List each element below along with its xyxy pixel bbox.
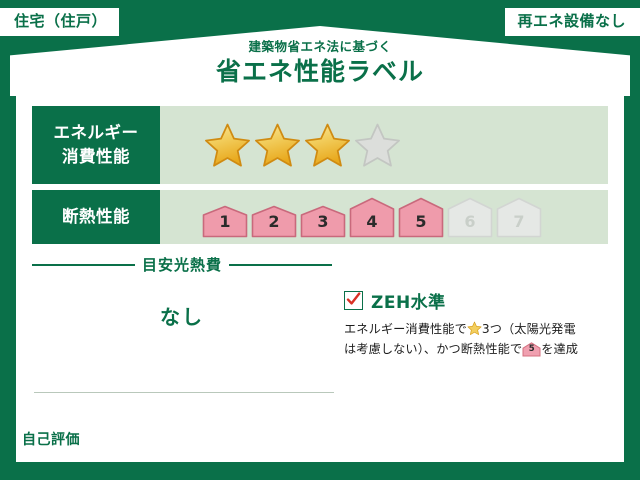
- property-name-block: ハートフルタウン松戸市樋野口Ⅴ（松戸）1号棟 （不動産ID：-）: [92, 430, 478, 464]
- evaluation-date: 評価日 2025年2月3日: [478, 430, 624, 450]
- renewable-equipment-badge: 再エネ設備なし: [505, 8, 640, 36]
- energy-cost-section: 目安光熱費 なし: [32, 254, 332, 330]
- insulation-level-number: 4: [366, 214, 377, 238]
- insulation-performance-label: 断熱性能: [32, 190, 160, 244]
- energy-performance-label-line2: 消費性能: [62, 145, 130, 169]
- inline-star-icon: [467, 321, 482, 336]
- energy-performance-stars: [160, 106, 608, 184]
- insulation-performance-row: 断熱性能 1 2 3 4: [32, 190, 608, 244]
- building-type-badge: 住宅（住戸）: [0, 8, 119, 36]
- inline-house-number: 5: [522, 342, 541, 357]
- star-filled: [304, 122, 351, 169]
- property-id: （不動産ID：-）: [92, 447, 478, 464]
- property-name: ハートフルタウン松戸市樋野口Ⅴ（松戸）1号棟: [92, 430, 363, 445]
- insulation-level-number: 3: [317, 214, 328, 238]
- star-empty: [354, 122, 401, 169]
- insulation-level-number: 6: [464, 214, 475, 238]
- energy-cost-value: なし: [32, 301, 332, 330]
- insulation-level-number: 7: [513, 214, 524, 238]
- insulation-level-6: 6: [447, 197, 493, 238]
- self-evaluation-badge: 自己評価: [16, 430, 86, 452]
- insulation-level-2: 2: [251, 205, 297, 238]
- energy-cost-title: 目安光熱費: [142, 254, 222, 275]
- insulation-house-scale: 1 2 3 4 5 6: [202, 197, 542, 238]
- insulation-level-4: 4: [349, 197, 395, 238]
- cost-section-divider: [34, 392, 334, 393]
- insulation-level-number: 5: [415, 214, 426, 238]
- insulation-performance-label-text: 断熱性能: [62, 205, 130, 229]
- zeh-description: エネルギー消費性能で 3つ（太陽光発電 は考慮しない）、かつ断熱性能で 5 を達…: [344, 320, 612, 360]
- energy-cost-header: 目安光熱費: [32, 254, 332, 275]
- evaluation-info: 評価日 2025年2月3日 6490475a-359e-43b9: [478, 430, 624, 462]
- footer-row: 自己評価 ハートフルタウン松戸市樋野口Ⅴ（松戸）1号棟 （不動産ID：-） 評価…: [16, 430, 624, 466]
- insulation-level-7: 7: [496, 197, 542, 238]
- insulation-level-3: 3: [300, 205, 346, 238]
- zeh-desc-stars: 3つ（太陽光発電: [482, 322, 576, 336]
- rule-right: [229, 264, 332, 266]
- energy-performance-label: エネルギー 消費性能: [32, 106, 160, 184]
- insulation-level-5: 5: [398, 197, 444, 238]
- zeh-checkbox[interactable]: [344, 291, 363, 310]
- insulation-scale-wrap: 1 2 3 4 5 6: [160, 190, 608, 244]
- energy-performance-row: エネルギー 消費性能: [32, 106, 608, 184]
- label-body-card: エネルギー 消費性能: [16, 96, 624, 462]
- zeh-block: ZEH水準 エネルギー消費性能で 3つ（太陽光発電 は考慮しない）、かつ断熱性能…: [344, 288, 612, 360]
- inline-house-icon: 5: [522, 342, 541, 357]
- zeh-title: ZEH水準: [371, 288, 446, 313]
- zeh-desc-part2: は考慮しない）、かつ断熱性能で: [344, 342, 522, 356]
- insulation-level-1: 1: [202, 205, 248, 238]
- zeh-header: ZEH水準: [344, 288, 612, 313]
- insulation-level-number: 2: [268, 214, 279, 238]
- energy-performance-label-line1: エネルギー: [54, 121, 139, 145]
- energy-label-root: 住宅（住戸） 再エネ設備なし 建築物省エネ法に基づく 省エネ性能ラベル エネルギ…: [0, 0, 640, 480]
- star-filled: [204, 122, 251, 169]
- zeh-desc-part1: エネルギー消費性能で: [344, 322, 467, 336]
- star-filled: [254, 122, 301, 169]
- insulation-level-number: 1: [219, 214, 230, 238]
- rule-left: [32, 264, 135, 266]
- zeh-desc-part3: を達成: [541, 342, 578, 356]
- document-id: 6490475a-359e-43b9: [478, 453, 624, 462]
- roof-shape: [10, 26, 630, 96]
